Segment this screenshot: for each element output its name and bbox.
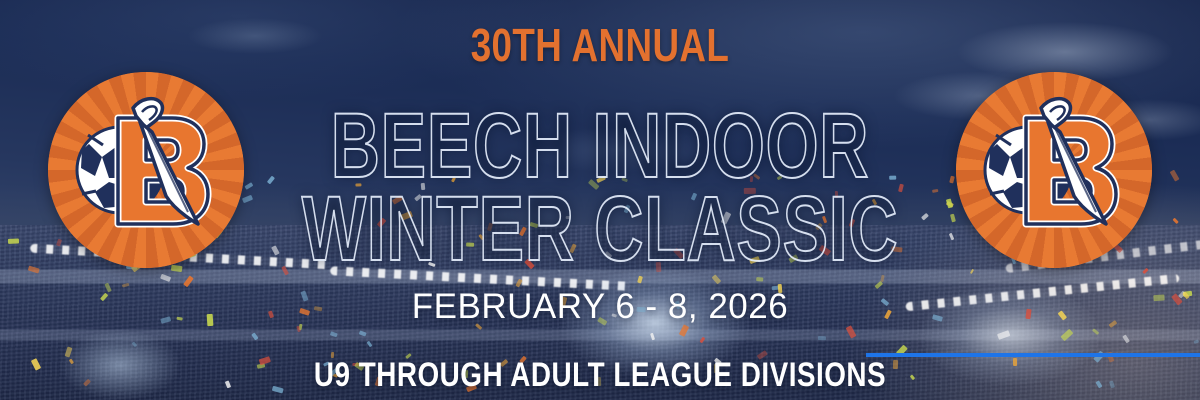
page-title-line-2: WINTER CLASSIC [156,183,1044,275]
event-banner: 30TH ANNUAL BEECH INDOOR WINTER CLASSIC … [0,0,1200,400]
event-dates: FEBRUARY 6 - 8, 2026 [0,289,1200,324]
eyebrow-text: 30TH ANNUAL [120,22,1080,68]
divisions-text: U9 THROUGH ADULT LEAGUE DIVISIONS [108,358,1092,392]
accent-rule [866,353,1200,357]
